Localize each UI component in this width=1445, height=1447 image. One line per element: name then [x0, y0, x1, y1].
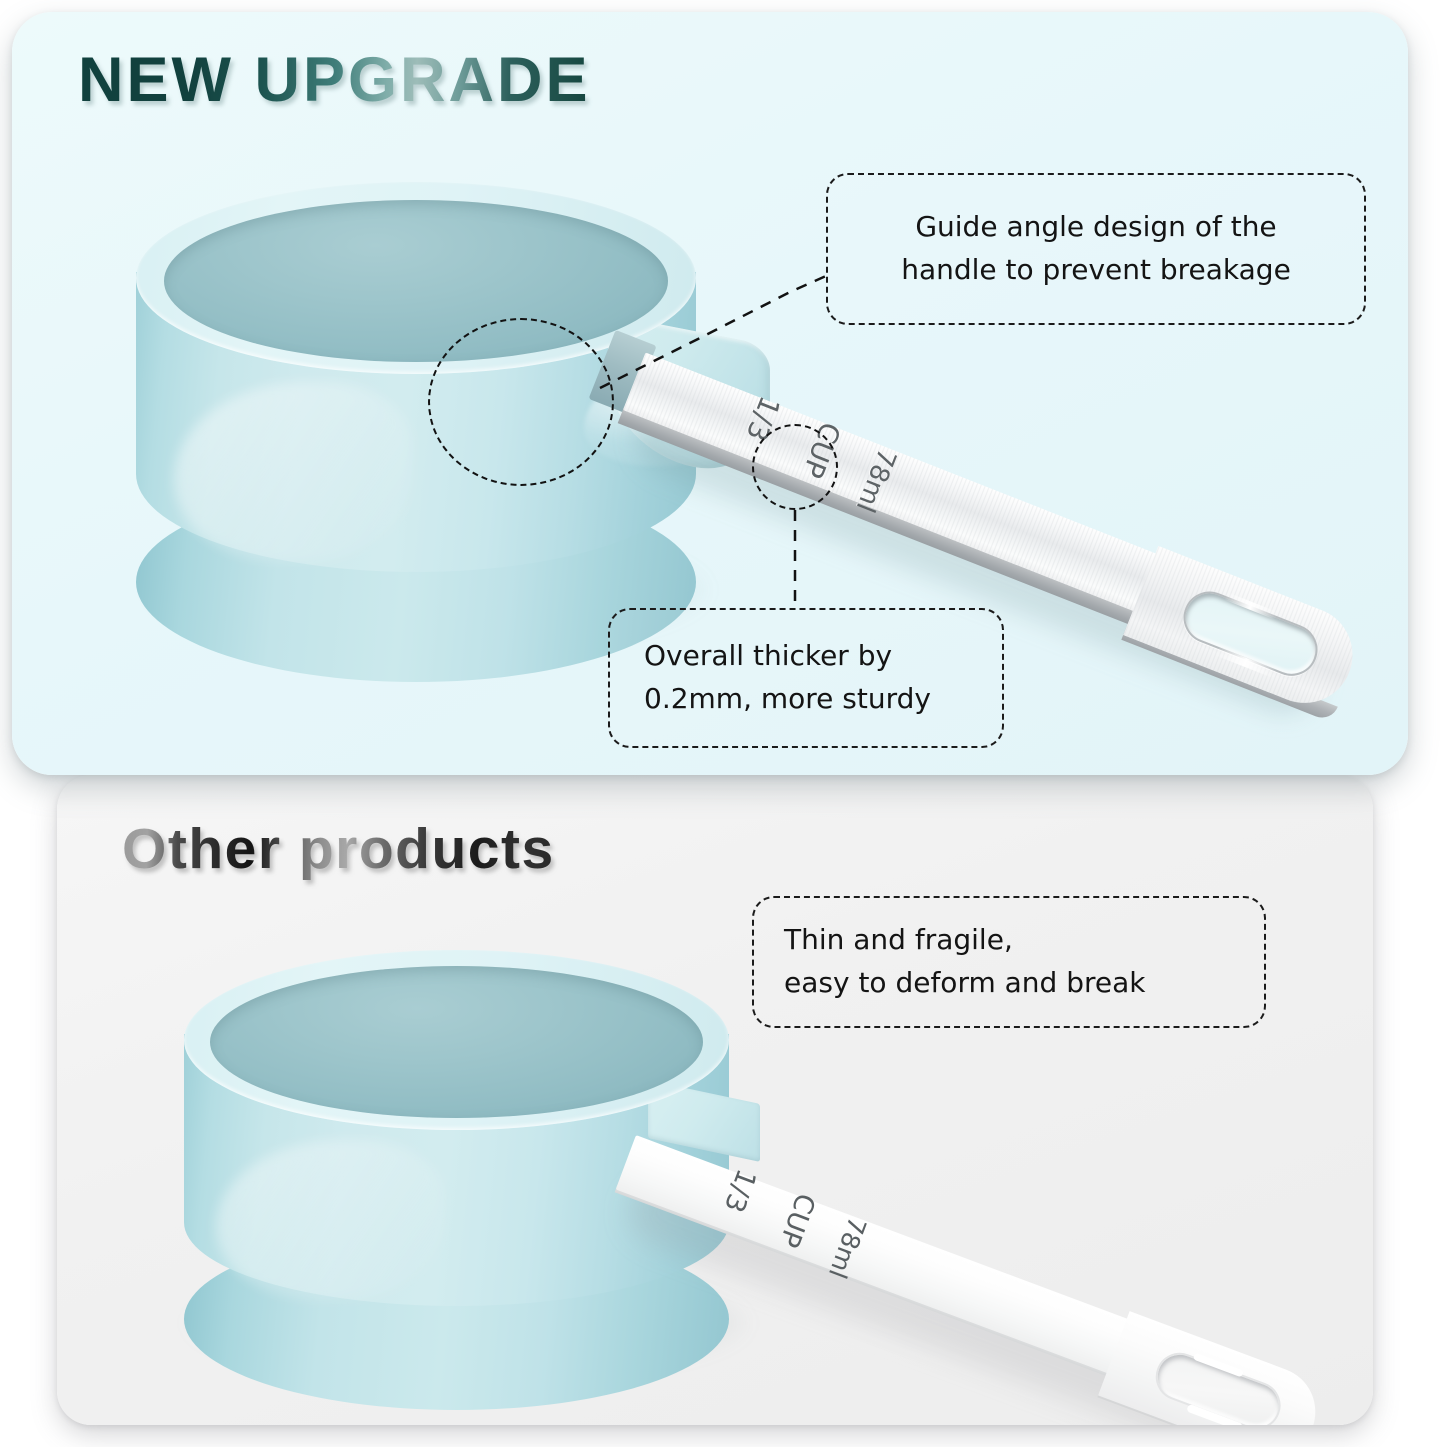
callout-guide-line1: Guide angle design of the	[854, 206, 1338, 249]
callout-fragile-line2: easy to deform and break	[784, 962, 1234, 1005]
zoom-circle-guide-angle	[428, 318, 614, 486]
callout-fragile: Thin and fragile, easy to deform and bre…	[752, 896, 1266, 1028]
callout-guide-angle: Guide angle design of the handle to prev…	[826, 173, 1366, 325]
callout-thickness-line1: Overall thicker by	[644, 635, 968, 678]
callout-thickness-line2: 0.2mm, more sturdy	[644, 678, 968, 721]
zoom-circle-thickness	[752, 424, 838, 510]
comparison-infographic: 1/3 CUP 78ml Other products Thin and fra…	[0, 0, 1445, 1447]
callout-fragile-line1: Thin and fragile,	[784, 919, 1234, 962]
leader-line-guide-angle	[600, 276, 826, 388]
callout-thickness: Overall thicker by 0.2mm, more sturdy	[608, 608, 1004, 748]
callout-guide-line2: handle to prevent breakage	[854, 249, 1338, 292]
